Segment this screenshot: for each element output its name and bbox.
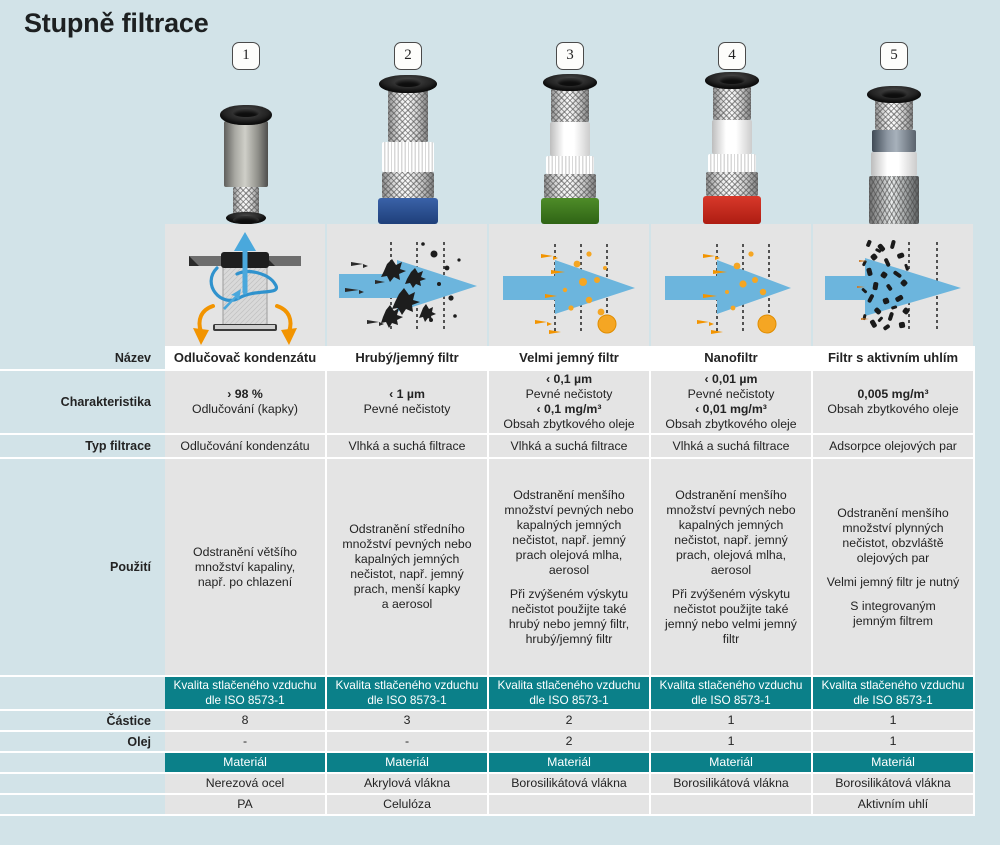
filtration-type-cell-4: Vlhká a suchá filtrace	[651, 435, 813, 459]
material-header-cell-4: Materiál	[651, 753, 813, 774]
row-label-material-2	[0, 795, 165, 816]
table-row-material-header: Materiál Materiál Materiál Materiál Mate…	[0, 753, 975, 774]
filter-photo-4: 4	[651, 38, 813, 224]
filter-photo-strip: 1 2 3 4	[165, 38, 975, 224]
separator-diagram-icon	[165, 224, 325, 346]
usage-cell-4: Odstranění menšíhomnožství pevných nebok…	[651, 459, 813, 677]
oil-cell-1: -	[165, 732, 327, 753]
characteristic-cell-1: › 98 %Odlučování (kapky)	[165, 371, 327, 435]
filtration-type-cell-5: Adsorpce olejových par	[813, 435, 975, 459]
stage-badge-4: 4	[718, 42, 746, 70]
diagram-nanofilter	[651, 224, 811, 346]
comparison-table: Název Odlučovač kondenzátu Hrubý/jemný f…	[0, 346, 1000, 816]
quality-header-cell-4: Kvalita stlačeného vzduchudle ISO 8573-1	[651, 677, 813, 711]
material2-cell-3	[489, 795, 651, 816]
oil-cell-3: 2	[489, 732, 651, 753]
oil-cell-2: -	[327, 732, 489, 753]
diagram-coarse-fine-filter	[327, 224, 487, 346]
table-row-material-2: PA Celulóza Aktivním uhlí	[0, 795, 975, 816]
usage-cell-1: Odstranění většíhomnožství kapaliny,např…	[165, 459, 327, 677]
characteristic-cell-2: ‹ 1 µmPevné nečistoty	[327, 371, 489, 435]
table-row-material-1: Nerezová ocel Akrylová vlákna Borosiliká…	[0, 774, 975, 795]
row-label-material-1	[0, 774, 165, 795]
quality-header-cell-5: Kvalita stlačeného vzduchudle ISO 8573-1	[813, 677, 975, 711]
usage-cell-3: Odstranění menšíhomnožství pevných nebok…	[489, 459, 651, 677]
particles-cell-3: 2	[489, 711, 651, 732]
table-row-usage: Použití Odstranění většíhomnožství kapal…	[0, 459, 975, 677]
row-label-oil: Olej	[0, 732, 165, 753]
usage-cell-5: Odstranění menšíhomnožství plynnýchnečis…	[813, 459, 975, 677]
characteristic-cell-5: 0,005 mg/m³Obsah zbytkového oleje	[813, 371, 975, 435]
cartridge-2-image	[376, 75, 440, 224]
row-label-usage: Použití	[0, 459, 165, 677]
table-row-particles: Částice 8 3 2 1 1	[0, 711, 975, 732]
particles-cell-2: 3	[327, 711, 489, 732]
cartridge-1-image	[216, 105, 276, 224]
oil-cell-4: 1	[651, 732, 813, 753]
name-cell-5: Filtr s aktivním uhlím	[813, 346, 975, 371]
cartridge-4-image	[700, 72, 764, 224]
quality-header-cell-3: Kvalita stlačeného vzduchudle ISO 8573-1	[489, 677, 651, 711]
filter-photo-1: 1	[165, 38, 327, 224]
material2-cell-4	[651, 795, 813, 816]
particles-cell-4: 1	[651, 711, 813, 732]
activated-carbon-filter-diagram-icon	[813, 224, 973, 346]
name-cell-2: Hrubý/jemný filtr	[327, 346, 489, 371]
material-header-cell-5: Materiál	[813, 753, 975, 774]
usage-cell-2: Odstranění středníhomnožství pevných neb…	[327, 459, 489, 677]
diagram-separator	[165, 224, 325, 346]
filtration-type-cell-1: Odlučování kondenzátu	[165, 435, 327, 459]
stage-badge-1: 1	[232, 42, 260, 70]
oil-cell-5: 1	[813, 732, 975, 753]
page-title: Stupně filtrace	[24, 8, 209, 39]
row-label-characteristic: Charakteristika	[0, 371, 165, 435]
diagram-very-fine-filter	[489, 224, 649, 346]
characteristic-cell-4: ‹ 0,01 µmPevné nečistoty‹ 0,01 mg/m³Obsa…	[651, 371, 813, 435]
row-label-quality	[0, 677, 165, 711]
material1-cell-5: Borosilikátová vlákna	[813, 774, 975, 795]
material1-cell-3: Borosilikátová vlákna	[489, 774, 651, 795]
name-cell-3: Velmi jemný filtr	[489, 346, 651, 371]
row-label-particles: Částice	[0, 711, 165, 732]
material1-cell-4: Borosilikátová vlákna	[651, 774, 813, 795]
row-label-material	[0, 753, 165, 774]
diagram-strip	[165, 224, 975, 346]
material2-cell-2: Celulóza	[327, 795, 489, 816]
name-cell-1: Odlučovač kondenzátu	[165, 346, 327, 371]
characteristic-cell-3: ‹ 0,1 µmPevné nečistoty‹ 0,1 mg/m³Obsah …	[489, 371, 651, 435]
nanofilter-diagram-icon	[651, 224, 811, 346]
cartridge-5-image	[862, 86, 926, 224]
very-fine-filter-diagram-icon	[489, 224, 649, 346]
material2-cell-1: PA	[165, 795, 327, 816]
material-header-cell-1: Materiál	[165, 753, 327, 774]
cartridge-3-image	[538, 74, 602, 224]
coarse-fine-filter-diagram-icon	[327, 224, 487, 346]
table-row-oil: Olej - - 2 1 1	[0, 732, 975, 753]
diagram-activated-carbon-filter	[813, 224, 973, 346]
stage-badge-3: 3	[556, 42, 584, 70]
material-header-cell-2: Materiál	[327, 753, 489, 774]
filtration-type-cell-3: Vlhká a suchá filtrace	[489, 435, 651, 459]
name-cell-4: Nanofiltr	[651, 346, 813, 371]
table-row-name: Název Odlučovač kondenzátu Hrubý/jemný f…	[0, 346, 975, 371]
stage-badge-2: 2	[394, 42, 422, 70]
particles-cell-5: 1	[813, 711, 975, 732]
filter-photo-3: 3	[489, 38, 651, 224]
filtration-type-cell-2: Vlhká a suchá filtrace	[327, 435, 489, 459]
quality-header-cell-1: Kvalita stlačeného vzduchudle ISO 8573-1	[165, 677, 327, 711]
material2-cell-5: Aktivním uhlí	[813, 795, 975, 816]
row-label-filtration-type: Typ filtrace	[0, 435, 165, 459]
material-header-cell-3: Materiál	[489, 753, 651, 774]
row-label-name: Název	[0, 346, 165, 371]
material1-cell-2: Akrylová vlákna	[327, 774, 489, 795]
particles-cell-1: 8	[165, 711, 327, 732]
stage-badge-5: 5	[880, 42, 908, 70]
filter-photo-2: 2	[327, 38, 489, 224]
material1-cell-1: Nerezová ocel	[165, 774, 327, 795]
table-row-characteristic: Charakteristika › 98 %Odlučování (kapky)…	[0, 371, 975, 435]
table-row-quality-header: Kvalita stlačeného vzduchudle ISO 8573-1…	[0, 677, 975, 711]
quality-header-cell-2: Kvalita stlačeného vzduchudle ISO 8573-1	[327, 677, 489, 711]
filter-photo-5: 5	[813, 38, 975, 224]
table-row-filtration-type: Typ filtrace Odlučování kondenzátu Vlhká…	[0, 435, 975, 459]
